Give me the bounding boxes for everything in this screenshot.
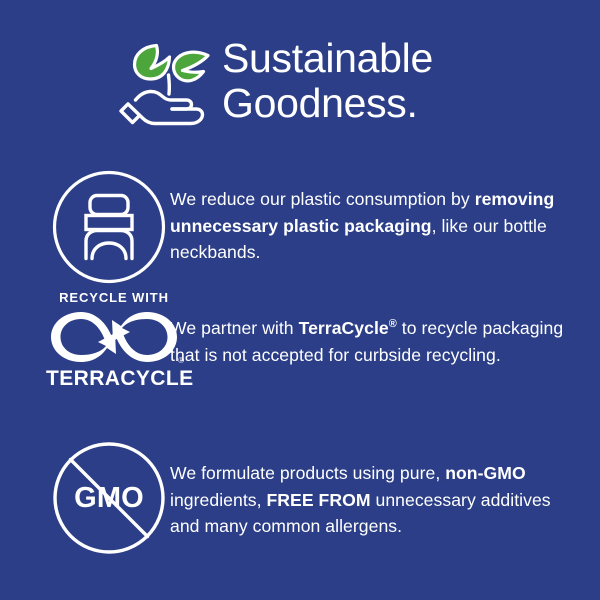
row-gmo-icon: GMO: [0, 435, 170, 563]
gmo-label: GMO: [52, 441, 166, 555]
emphasis-text: FREE FROM: [267, 490, 371, 510]
terracycle-wordmark: TERRACYCLE: [46, 367, 182, 391]
registered-mark: ®: [389, 318, 397, 330]
bottle-in-circle-icon: [52, 170, 166, 284]
emphasis-text: non-GMO: [445, 463, 525, 483]
body-text: ingredients,: [170, 490, 267, 510]
terracycle-top-label: RECYCLE WITH: [46, 290, 182, 306]
body-text: We formulate products using pure,: [170, 463, 445, 483]
emphasis-text: TerraCycle®: [299, 318, 397, 338]
registered-mark: ®: [178, 357, 184, 365]
body-text: We reduce our plastic consumption by: [170, 189, 475, 209]
row-gmo-text: We formulate products using pure, non-GM…: [170, 435, 600, 540]
row-plastic: We reduce our plastic consumption by rem…: [0, 160, 600, 290]
header: Sustainable Goodness.: [0, 24, 600, 142]
row-terracycle-icon: RECYCLE WITH ® TERRACYCLE: [0, 290, 170, 418]
page-title: Sustainable Goodness.: [222, 36, 433, 130]
sustainability-panel: Sustainable Goodness. We reduce our plas…: [0, 0, 600, 600]
row-gmo: GMO We formulate products using pure, no…: [0, 435, 600, 585]
body-text: We partner with: [170, 318, 299, 338]
row-terracycle-text: We partner with TerraCycle® to recycle p…: [170, 290, 600, 368]
row-plastic-text: We reduce our plastic consumption by rem…: [170, 160, 600, 266]
benefit-rows: We reduce our plastic consumption by rem…: [0, 160, 600, 585]
row-terracycle: RECYCLE WITH ® TERRACYCLE We partner wit…: [0, 290, 600, 435]
infinity-arrows-icon: ®: [46, 309, 182, 365]
terracycle-logo: RECYCLE WITH ® TERRACYCLE: [46, 290, 182, 391]
row-plastic-icon: [0, 164, 170, 292]
hand-holding-sprout-icon: [112, 33, 216, 137]
